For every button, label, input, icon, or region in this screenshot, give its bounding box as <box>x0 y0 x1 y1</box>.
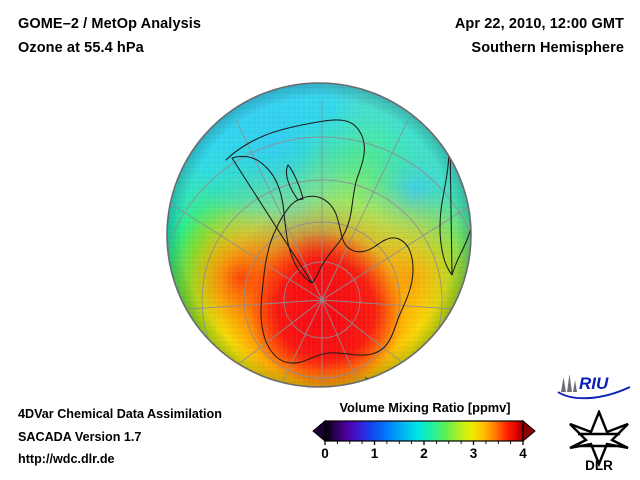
limb-shading <box>167 83 471 387</box>
colorbar-major-ticks <box>325 441 523 445</box>
coastline-tasmania <box>183 354 193 359</box>
colorbar: Volume Mixing Ratio [ppmv] <box>305 400 545 466</box>
colorbar-tick-1: 1 <box>371 446 379 461</box>
page-title: GOME–2 / MetOp Analysis <box>18 12 201 36</box>
coastline-new-zealand <box>195 366 224 386</box>
hemisphere-label: Southern Hemisphere <box>455 36 624 60</box>
page-subtitle: Ozone at 55.4 hPa <box>18 36 201 60</box>
method-label: 4DVar Chemical Data Assimilation <box>18 403 222 426</box>
dlr-mark-icon <box>570 412 628 464</box>
globe-svg <box>166 82 472 388</box>
colorbar-tick-2: 2 <box>420 446 428 461</box>
dlr-logo: DLR <box>566 410 632 472</box>
ozone-globe-map <box>166 82 472 388</box>
header-left: GOME–2 / MetOp Analysis Ozone at 55.4 hP… <box>18 12 201 60</box>
riu-logo-svg: RIU <box>556 372 632 402</box>
colorbar-cap-high <box>523 421 535 441</box>
dlr-logo-svg: DLR <box>566 410 632 472</box>
colorbar-cap-low <box>313 421 325 441</box>
colorbar-tick-4: 4 <box>519 446 527 461</box>
timestamp-label: Apr 22, 2010, 12:00 GMT <box>455 12 624 36</box>
colorbar-tick-0: 0 <box>321 446 329 461</box>
riu-wordmark: RIU <box>579 374 609 393</box>
colorbar-svg <box>305 419 545 445</box>
riu-tower-icon <box>561 374 577 392</box>
colorbar-gradient <box>325 421 523 441</box>
website-link[interactable]: http://wdc.dlr.de <box>18 448 222 471</box>
colorbar-tick-3: 3 <box>470 446 478 461</box>
riu-logo: RIU <box>556 372 632 402</box>
colorbar-title: Volume Mixing Ratio [ppmv] <box>305 400 545 415</box>
dlr-wordmark: DLR <box>585 458 613 472</box>
footer-credits: 4DVar Chemical Data Assimilation SACADA … <box>18 403 222 471</box>
version-label: SACADA Version 1.7 <box>18 426 222 449</box>
header-right: Apr 22, 2010, 12:00 GMT Southern Hemisph… <box>455 12 624 60</box>
colorbar-tick-labels: 0 1 2 3 4 <box>305 446 545 466</box>
